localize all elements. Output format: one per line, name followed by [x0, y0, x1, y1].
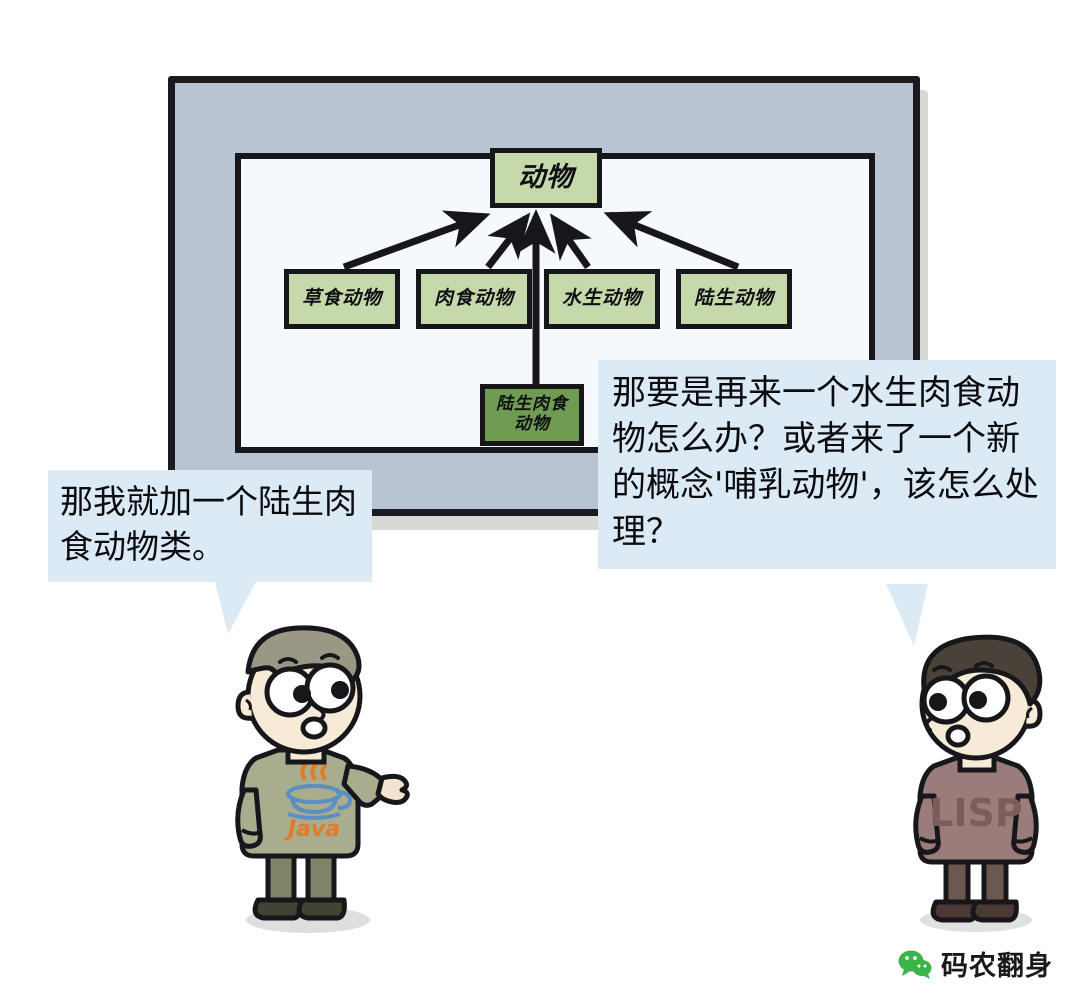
diagram-node-terrestrial-carnivore[interactable]: 陆生肉食动物: [480, 384, 584, 446]
comic-stage: 动物 草食动物 肉食动物 水生动物 陆生动物 陆生肉食动物 那我就加一个陆生肉食…: [0, 0, 1080, 997]
diagram-node-herbivore[interactable]: 草食动物: [284, 269, 400, 329]
speech-bubble-right: 那要是再来一个水生肉食动物怎么办？或者来了一个新的概念'哺乳动物'，该怎么处理？: [598, 360, 1056, 569]
edge-aquatic: [554, 219, 588, 267]
speech-bubble-left: 那我就加一个陆生肉食动物类。: [48, 470, 372, 582]
java-character: Java: [196, 608, 426, 938]
watermark-text: 码农翻身: [941, 944, 1053, 983]
java-shirt-label: Java: [284, 817, 340, 842]
edge-terrestrial: [610, 215, 738, 267]
diagram-node-terrestrial[interactable]: 陆生动物: [676, 269, 792, 329]
watermark: 码农翻身: [898, 944, 1053, 983]
edge-herbivore: [344, 216, 484, 267]
wechat-icon: [898, 949, 932, 979]
lisp-character: LISP: [876, 618, 1076, 938]
edge-carnivore: [488, 218, 526, 267]
diagram-node-carnivore[interactable]: 肉食动物: [416, 269, 532, 329]
diagram-node-aquatic[interactable]: 水生动物: [544, 269, 660, 329]
lisp-shirt-label: LISP: [929, 791, 1023, 835]
diagram-node-root[interactable]: 动物: [490, 148, 602, 208]
